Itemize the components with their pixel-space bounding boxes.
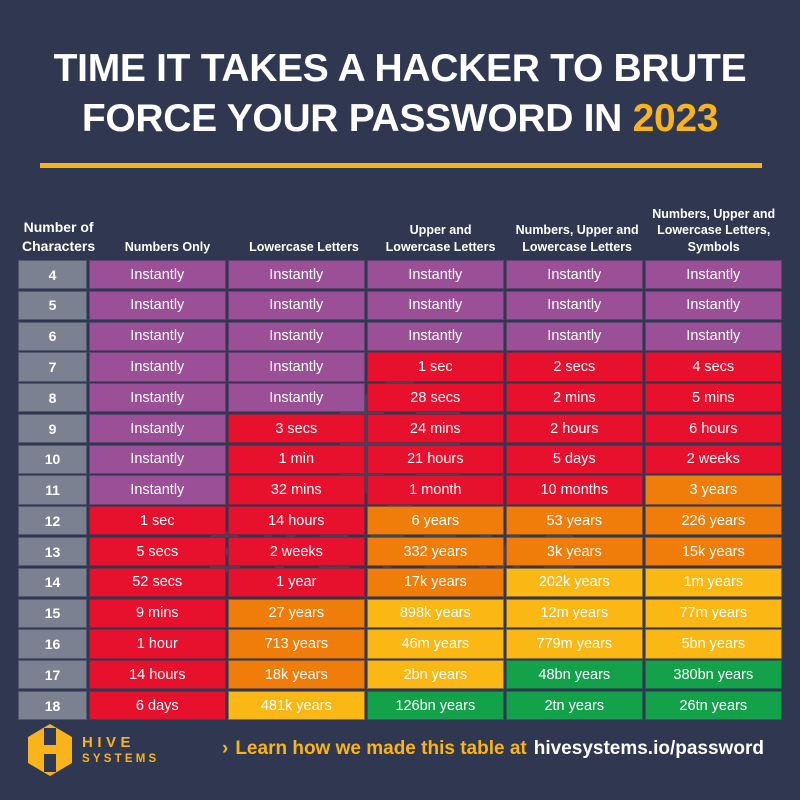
cell-character-count: 13 — [18, 537, 87, 566]
cell-character-count: 14 — [18, 568, 87, 597]
cell-crack-time: Instantly — [367, 291, 504, 320]
cell-crack-time: 3k years — [506, 537, 643, 566]
cell-crack-time: 46m years — [367, 629, 504, 658]
cell-crack-time: 1 min — [228, 445, 365, 474]
cell-crack-time: 28 secs — [367, 383, 504, 412]
hive-systems-logo[interactable]: HIVE SYSTEMS — [28, 724, 159, 776]
table-row: 9Instantly3 secs24 mins2 hours6 hours — [18, 414, 782, 443]
cell-crack-time: 6 hours — [645, 414, 782, 443]
table-row: 1452 secs1 year17k years202k years1m yea… — [18, 568, 782, 597]
table-row: 135 secs2 weeks332 years3k years15k year… — [18, 537, 782, 566]
cell-crack-time: 77m years — [645, 599, 782, 628]
cell-crack-time: 21 hours — [367, 445, 504, 474]
cell-character-count: 8 — [18, 383, 87, 412]
cell-character-count: 11 — [18, 475, 87, 504]
cell-crack-time: 3 years — [645, 475, 782, 504]
title-line-1: TIME IT TAKES A HACKER TO BRUTE — [54, 47, 747, 90]
table-body: 4InstantlyInstantlyInstantlyInstantlyIns… — [18, 260, 782, 720]
cell-crack-time: 12m years — [506, 599, 643, 628]
cell-crack-time: 14 hours — [89, 660, 226, 689]
cell-crack-time: 3 secs — [228, 414, 365, 443]
cell-crack-time: Instantly — [89, 445, 226, 474]
cell-crack-time: Instantly — [89, 352, 226, 381]
cell-crack-time: Instantly — [228, 383, 365, 412]
cell-crack-time: 1 sec — [89, 506, 226, 535]
table-row: 6InstantlyInstantlyInstantlyInstantlyIns… — [18, 322, 782, 351]
cell-crack-time: 1m years — [645, 568, 782, 597]
column-header-numbers-upper-lowercase-letters-symbols: Numbers, Upper and Lowercase Letters, Sy… — [645, 186, 782, 260]
cell-crack-time: Instantly — [228, 260, 365, 289]
cell-crack-time: 24 mins — [367, 414, 504, 443]
cell-crack-time: 14 hours — [228, 506, 365, 535]
cell-crack-time: 15k years — [645, 537, 782, 566]
cell-crack-time: 32 mins — [228, 475, 365, 504]
cell-crack-time: 53 years — [506, 506, 643, 535]
cell-crack-time: 2 hours — [506, 414, 643, 443]
title-year: 2023 — [633, 97, 719, 140]
cell-crack-time: 332 years — [367, 537, 504, 566]
cell-crack-time: 1 sec — [367, 352, 504, 381]
table-row: 10Instantly1 min21 hours5 days2 weeks — [18, 445, 782, 474]
table-row: 11Instantly32 mins1 month10 months3 year… — [18, 475, 782, 504]
page-title: TIME IT TAKES A HACKER TO BRUTE FORCE YO… — [0, 44, 800, 144]
cell-crack-time: Instantly — [228, 352, 365, 381]
column-header-lowercase-letters: Lowercase Letters — [236, 186, 373, 260]
table-row: 4InstantlyInstantlyInstantlyInstantlyIns… — [18, 260, 782, 289]
column-header-numbers-only: Numbers Only — [99, 186, 236, 260]
footer: HIVE SYSTEMS › Learn how we made this ta… — [0, 712, 800, 800]
cell-crack-time: 713 years — [228, 629, 365, 658]
table-row: 161 hour713 years46m years779m years5bn … — [18, 629, 782, 658]
cell-crack-time: 9 mins — [89, 599, 226, 628]
cell-crack-time: 779m years — [506, 629, 643, 658]
cell-crack-time: 2 secs — [506, 352, 643, 381]
cell-crack-time: 5 secs — [89, 537, 226, 566]
cell-crack-time: Instantly — [506, 260, 643, 289]
cta-lead-text: Learn how we made this table at — [235, 738, 526, 760]
cell-character-count: 6 — [18, 322, 87, 351]
cell-crack-time: 2 weeks — [645, 445, 782, 474]
cta-url-text: hivesystems.io/password — [534, 738, 764, 760]
cell-crack-time: Instantly — [89, 414, 226, 443]
table-header-row: Number of Characters Numbers Only Lowerc… — [18, 186, 782, 260]
cell-crack-time: 48bn years — [506, 660, 643, 689]
cell-crack-time: 4 secs — [645, 352, 782, 381]
cell-crack-time: Instantly — [228, 291, 365, 320]
cell-crack-time: Instantly — [89, 475, 226, 504]
cell-character-count: 9 — [18, 414, 87, 443]
cell-crack-time: Instantly — [506, 291, 643, 320]
column-header-numbers-upper-and-lowercase-letters: Numbers, Upper and Lowercase Letters — [509, 186, 646, 260]
cell-crack-time: 2 weeks — [228, 537, 365, 566]
cell-crack-time: 898k years — [367, 599, 504, 628]
cell-character-count: 12 — [18, 506, 87, 535]
cell-crack-time: 27 years — [228, 599, 365, 628]
logo-wordmark: HIVE SYSTEMS — [82, 734, 159, 766]
cell-crack-time: Instantly — [89, 260, 226, 289]
cell-crack-time: 5 mins — [645, 383, 782, 412]
cell-crack-time: Instantly — [367, 260, 504, 289]
cell-crack-time: 202k years — [506, 568, 643, 597]
cell-character-count: 15 — [18, 599, 87, 628]
cell-crack-time: 5 days — [506, 445, 643, 474]
cell-character-count: 16 — [18, 629, 87, 658]
cell-crack-time: Instantly — [645, 322, 782, 351]
cell-character-count: 17 — [18, 660, 87, 689]
cell-crack-time: 2bn years — [367, 660, 504, 689]
table-row: 5InstantlyInstantlyInstantlyInstantlyIns… — [18, 291, 782, 320]
cell-crack-time: 18k years — [228, 660, 365, 689]
table-row: 121 sec14 hours6 years53 years226 years — [18, 506, 782, 535]
cell-character-count: 5 — [18, 291, 87, 320]
cell-crack-time: 10 months — [506, 475, 643, 504]
table-row: 7InstantlyInstantly1 sec2 secs4 secs — [18, 352, 782, 381]
cell-crack-time: Instantly — [89, 383, 226, 412]
cell-character-count: 10 — [18, 445, 87, 474]
hive-hexagon-icon — [28, 724, 72, 776]
cell-crack-time: 2 mins — [506, 383, 643, 412]
cell-crack-time: 1 month — [367, 475, 504, 504]
table-row: 1714 hours18k years2bn years48bn years38… — [18, 660, 782, 689]
logo-line-2: SYSTEMS — [82, 752, 159, 766]
chevron-right-icon: › — [222, 738, 228, 760]
table-row: 159 mins27 years898k years12m years77m y… — [18, 599, 782, 628]
cell-crack-time: 1 year — [228, 568, 365, 597]
logo-line-1: HIVE — [82, 734, 159, 752]
cell-crack-time: 1 hour — [89, 629, 226, 658]
cell-crack-time: Instantly — [89, 291, 226, 320]
cell-crack-time: 17k years — [367, 568, 504, 597]
cell-crack-time: Instantly — [645, 260, 782, 289]
cell-crack-time: Instantly — [367, 322, 504, 351]
learn-more-link[interactable]: › Learn how we made this table at hivesy… — [222, 738, 764, 760]
column-header-number-of-characters: Number of Characters — [18, 186, 99, 260]
cell-character-count: 7 — [18, 352, 87, 381]
cell-crack-time: Instantly — [645, 291, 782, 320]
table-row: 8InstantlyInstantly28 secs2 mins5 mins — [18, 383, 782, 412]
password-crack-time-table: Number of Characters Numbers Only Lowerc… — [18, 186, 782, 722]
cell-character-count: 4 — [18, 260, 87, 289]
cell-crack-time: Instantly — [228, 322, 365, 351]
title-divider — [40, 163, 762, 168]
cell-crack-time: 6 years — [367, 506, 504, 535]
cell-crack-time: 52 secs — [89, 568, 226, 597]
cell-crack-time: 5bn years — [645, 629, 782, 658]
column-header-upper-and-lowercase-letters: Upper and Lowercase Letters — [372, 186, 509, 260]
title-line-2: FORCE YOUR PASSWORD IN — [82, 97, 633, 140]
cell-crack-time: 226 years — [645, 506, 782, 535]
cell-crack-time: Instantly — [89, 322, 226, 351]
cell-crack-time: 380bn years — [645, 660, 782, 689]
cell-crack-time: Instantly — [506, 322, 643, 351]
